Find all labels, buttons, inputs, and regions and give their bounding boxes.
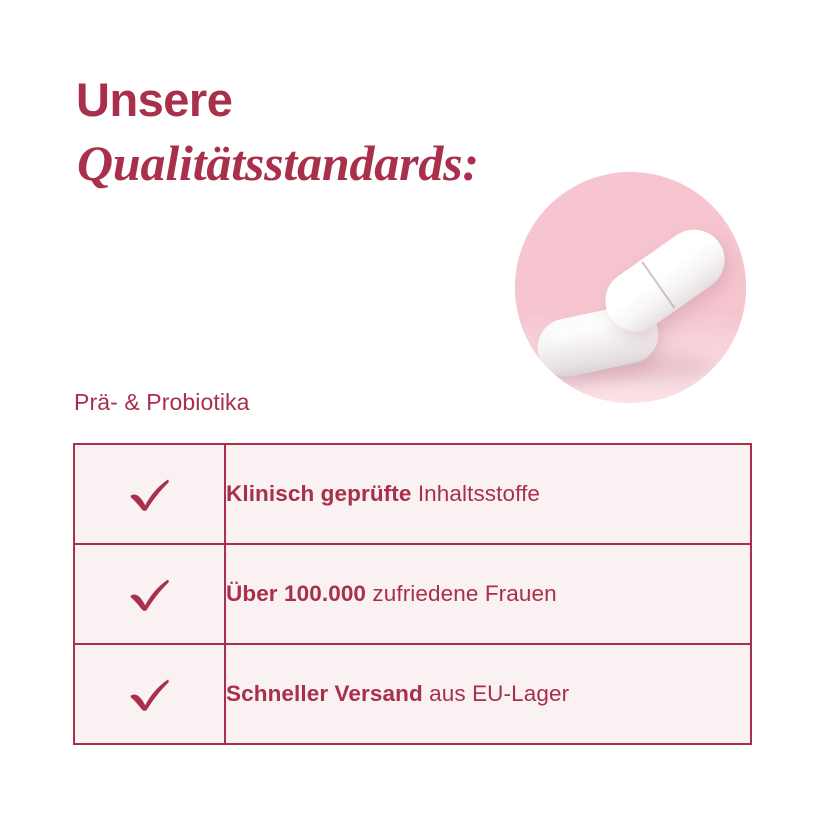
table-cell-check: [74, 644, 225, 744]
page-title-line-2: Qualitätsstandards:: [77, 134, 546, 192]
table-cell-text: Klinisch geprüfte Inhaltsstoffe: [225, 444, 751, 544]
standards-table: Klinisch geprüfte Inhaltsstoffe Über 100…: [73, 443, 752, 745]
row-text-regular: Inhaltsstoffe: [411, 481, 540, 506]
table-cell-text: Schneller Versand aus EU-Lager: [225, 644, 751, 744]
table-row: Schneller Versand aus EU-Lager: [74, 644, 751, 744]
page-title: Unsere Qualitätsstandards:: [76, 72, 546, 192]
table-cell-text: Über 100.000 zufriedene Frauen: [225, 544, 751, 644]
page-title-line-1: Unsere: [76, 72, 546, 128]
checkmark-icon: [128, 475, 172, 513]
row-text-strong: Klinisch geprüfte: [226, 481, 411, 506]
row-text-strong: Schneller Versand: [226, 681, 423, 706]
product-image-circle: [515, 172, 746, 403]
checkmark-icon: [128, 575, 172, 613]
row-text-regular: zufriedene Frauen: [366, 581, 557, 606]
category-label: Prä- & Probiotika: [74, 388, 250, 416]
table-cell-check: [74, 444, 225, 544]
table-row: Klinisch geprüfte Inhaltsstoffe: [74, 444, 751, 544]
quality-standards-card: Unsere Qualitätsstandards: Prä- & Probio…: [0, 0, 823, 823]
table-row: Über 100.000 zufriedene Frauen: [74, 544, 751, 644]
row-text-regular: aus EU-Lager: [423, 681, 569, 706]
table-cell-check: [74, 544, 225, 644]
row-text-strong: Über 100.000: [226, 581, 366, 606]
checkmark-icon: [128, 675, 172, 713]
